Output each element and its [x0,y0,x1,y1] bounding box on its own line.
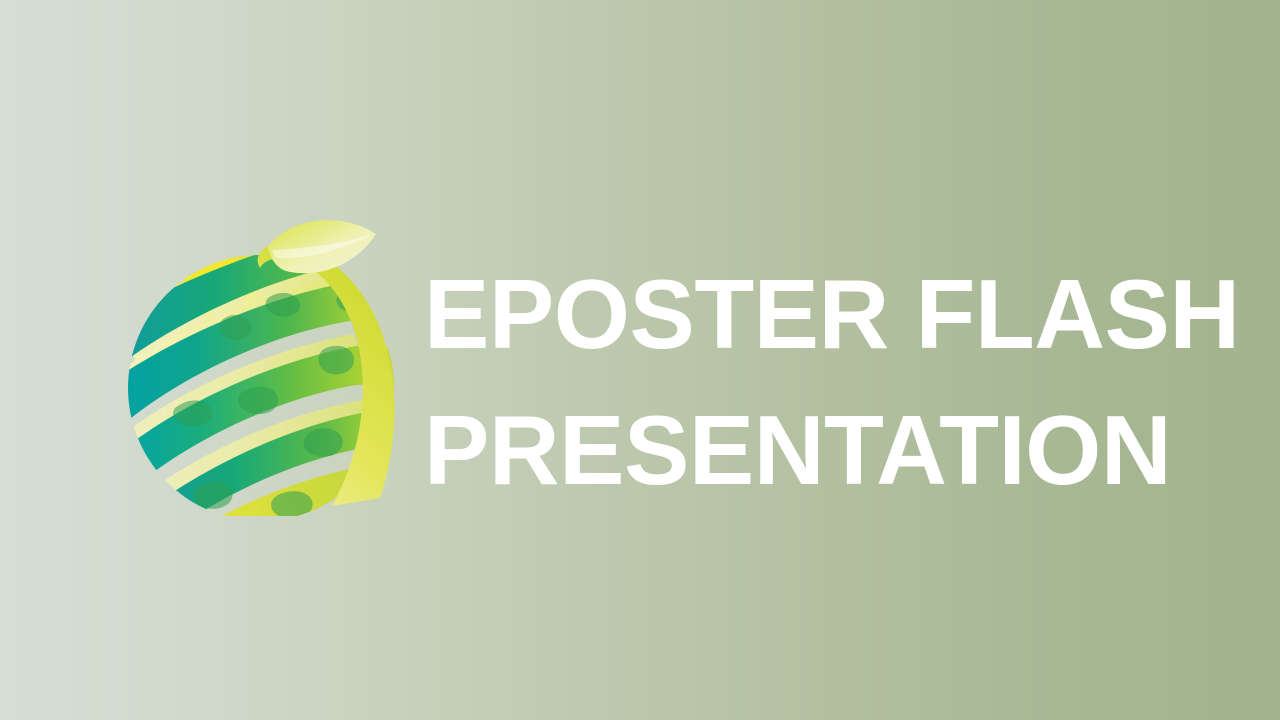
title-line-1: EPOSTER FLASH [424,246,1224,382]
page-title: EPOSTER FLASH PRESENTATION [424,246,1224,518]
globe-ribbon-leaf-logo [118,198,403,516]
title-line-2: PRESENTATION [424,382,1224,518]
title-slide: EPOSTER FLASH PRESENTATION [0,0,1280,720]
